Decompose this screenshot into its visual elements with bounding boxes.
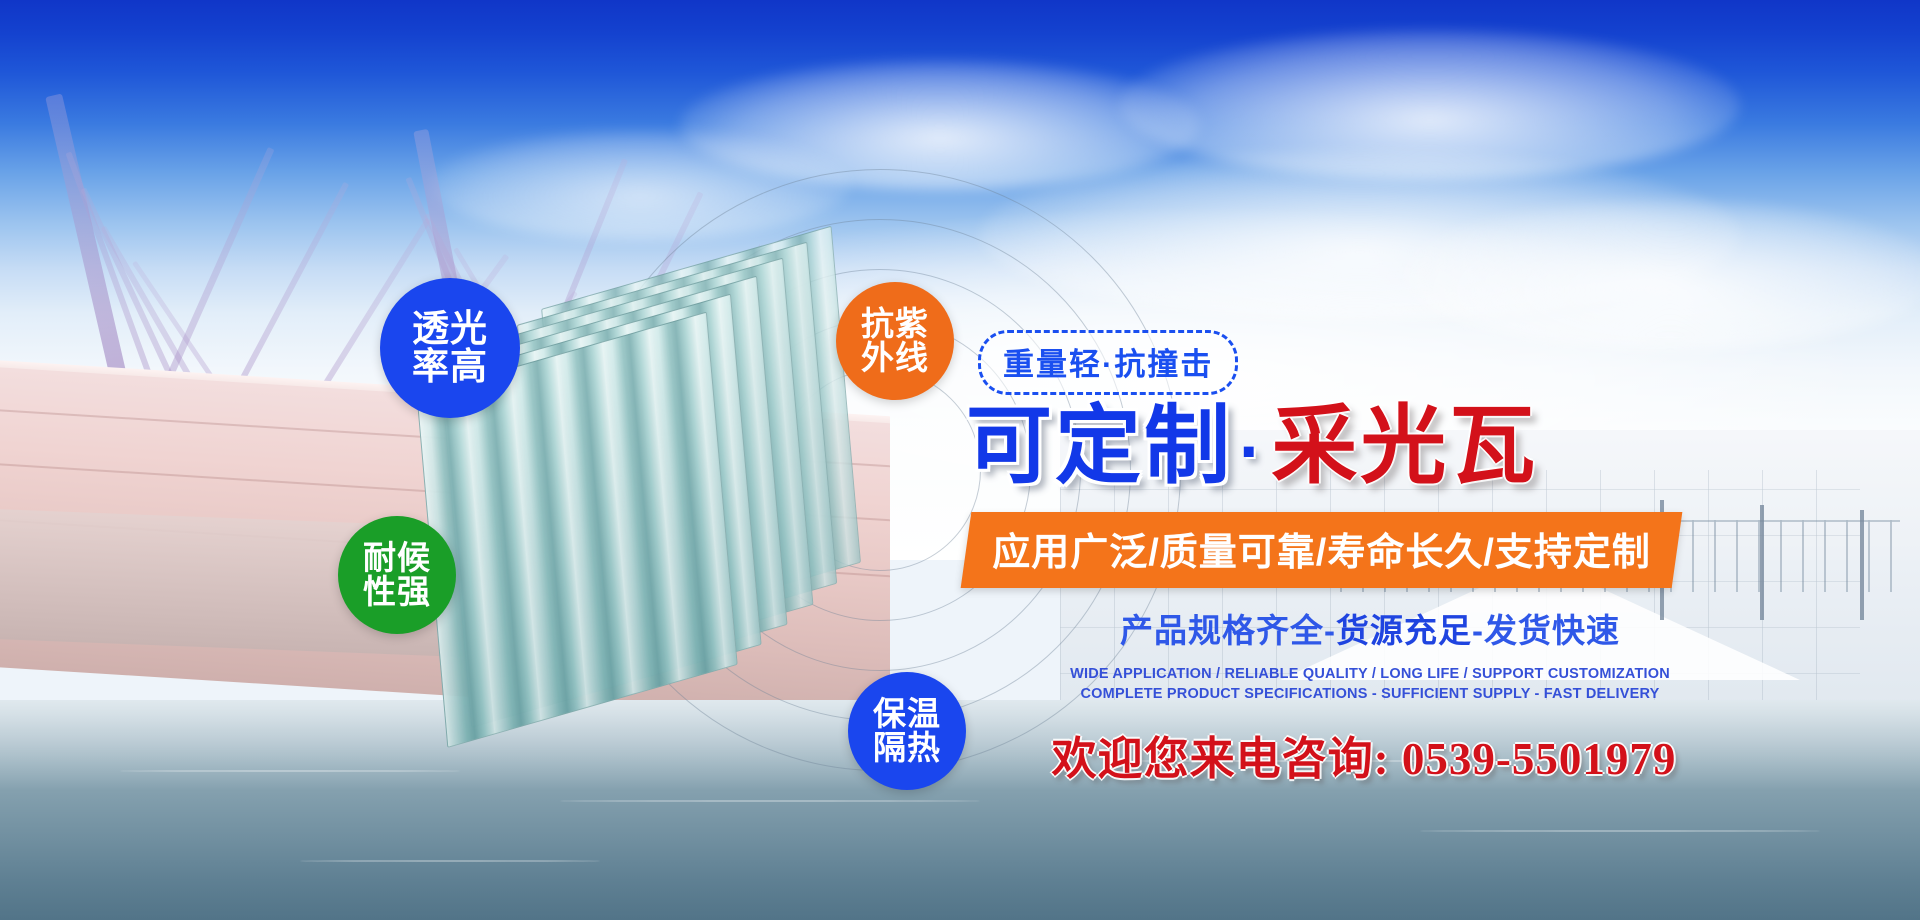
- badge-label-line2: 性强: [363, 575, 431, 609]
- features-bar: 应用广泛/质量可靠/寿命长久/支持定制: [961, 512, 1682, 588]
- phone-number[interactable]: 0539-5501979: [1402, 734, 1677, 784]
- contact-label: 欢迎您来电咨询:: [1052, 734, 1390, 784]
- english-line-2: COMPLETE PRODUCT SPECIFICATIONS - SUFFIC…: [980, 686, 1760, 702]
- badge-light-transmittance[interactable]: 透光 率高: [380, 278, 520, 418]
- supply-subline-pre: 产品规格齐全-: [1120, 612, 1336, 649]
- supply-subline: 产品规格齐全-货源充足-发货快速: [980, 604, 1760, 652]
- promo-banner: 透光 率高 抗紫 外线 耐候 性强 保温 隔热 重量轻·抗撞击 可定制·采光瓦 …: [0, 0, 1920, 920]
- headline-separator: ·: [1233, 412, 1271, 490]
- badge-label-line2: 外线: [861, 341, 929, 375]
- badge-label-line1: 透光: [412, 310, 488, 348]
- badge-label-line2: 率高: [412, 348, 488, 386]
- contact-line[interactable]: 欢迎您来电咨询: 0539-5501979: [974, 722, 1754, 787]
- badge-label-line1: 抗紫: [861, 307, 929, 341]
- headline-red: 采光瓦: [1271, 398, 1538, 494]
- badge-weather-resistance[interactable]: 耐候 性强: [338, 516, 456, 634]
- cloud: [1400, 200, 1920, 350]
- headline-blue: 可定制: [966, 398, 1233, 494]
- copy-block: 重量轻·抗撞击 可定制·采光瓦 应用广泛/质量可靠/寿命长久/支持定制 产品规格…: [960, 330, 1900, 787]
- badge-label-line1: 保温: [873, 697, 941, 731]
- badge-label-line1: 耐候: [363, 541, 431, 575]
- supply-subline-post: -发货快速: [1472, 612, 1620, 649]
- badge-thermal-insulation[interactable]: 保温 隔热: [848, 672, 966, 790]
- english-line-1: WIDE APPLICATION / RELIABLE QUALITY / LO…: [980, 666, 1760, 682]
- tagline-badge: 重量轻·抗撞击: [978, 330, 1238, 395]
- features-bar-label: 应用广泛/质量可靠/寿命长久/支持定制: [992, 521, 1651, 576]
- badge-anti-uv[interactable]: 抗紫 外线: [836, 282, 954, 400]
- badge-label-line2: 隔热: [873, 731, 941, 765]
- headline: 可定制·采光瓦: [966, 401, 1900, 492]
- supply-subline-strong: 货源充足: [1336, 612, 1472, 649]
